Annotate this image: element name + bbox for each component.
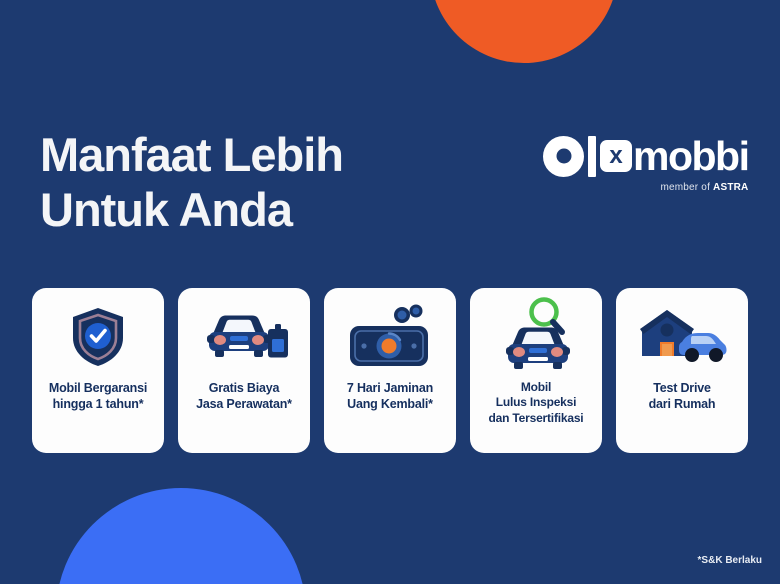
blue-decorative-circle xyxy=(56,488,306,584)
home-test-drive-icon xyxy=(636,294,728,380)
benefit-card-inspection[interactable]: Mobil Lulus Inspeksi dan Tersertifikasi xyxy=(470,288,602,453)
benefit-card-label: Mobil Bergaransi hingga 1 tahun* xyxy=(43,380,153,412)
benefit-card-label: 7 Hari Jaminan Uang Kembali* xyxy=(341,380,439,412)
benefit-card-money-back[interactable]: 7 Hari Jaminan Uang Kembali* xyxy=(324,288,456,453)
benefit-card-home-test-drive[interactable]: Test Drive dari Rumah xyxy=(616,288,748,453)
car-maintenance-icon xyxy=(199,294,289,380)
benefit-card-label: Gratis Biaya Jasa Perawatan* xyxy=(190,380,298,412)
benefits-card-list: Mobil Bergaransi hingga 1 tahun* xyxy=(32,288,748,453)
logo-tagline-prefix: member of xyxy=(660,182,713,193)
car-inspection-icon xyxy=(498,294,574,380)
benefit-card-maintenance[interactable]: Gratis Biaya Jasa Perawatan* xyxy=(178,288,310,453)
money-back-icon xyxy=(344,294,436,380)
logo-l-bar-icon xyxy=(588,136,596,177)
logo-wordmark: mobbi xyxy=(633,136,748,177)
logo-tagline-brand: ASTRA xyxy=(713,182,748,193)
shield-check-icon xyxy=(69,294,127,380)
benefit-card-label: Test Drive dari Rumah xyxy=(643,380,722,412)
promo-banner: Manfaat Lebih Untuk Anda x mobbi member … xyxy=(0,0,780,584)
benefit-card-warranty[interactable]: Mobil Bergaransi hingga 1 tahun* xyxy=(32,288,164,453)
page-title: Manfaat Lebih Untuk Anda xyxy=(40,128,343,237)
logo-x-icon: x xyxy=(600,140,632,172)
orange-decorative-circle xyxy=(430,0,618,63)
olxmobbi-logo: x mobbi member of ASTRA xyxy=(543,133,748,193)
benefit-card-label: Mobil Lulus Inspeksi dan Tersertifikasi xyxy=(483,380,590,426)
logo-o-icon xyxy=(543,136,584,177)
logo-lockup: x mobbi xyxy=(543,133,748,179)
terms-footnote: *S&K Berlaku xyxy=(698,555,762,566)
logo-tagline: member of ASTRA xyxy=(543,182,748,193)
